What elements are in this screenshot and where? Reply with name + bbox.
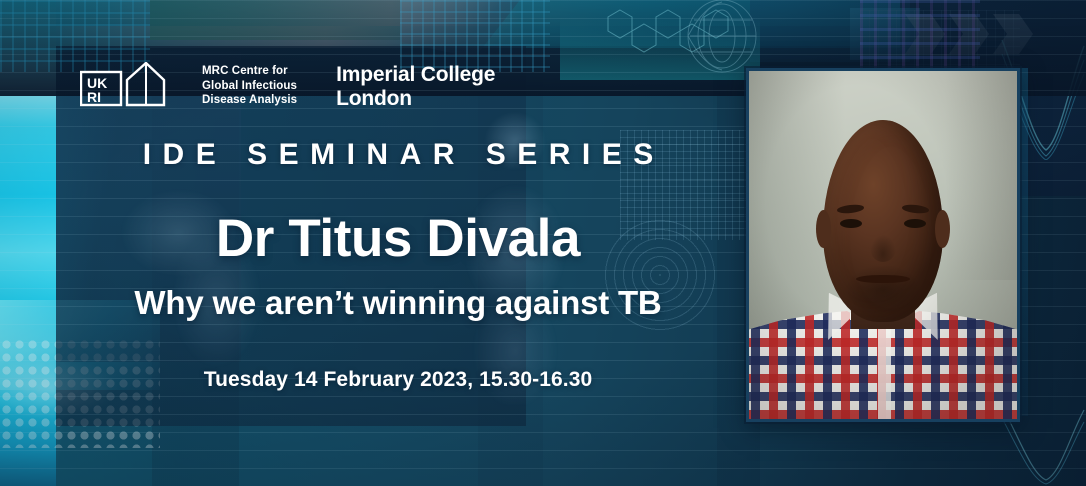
ukri-logo-icon: UK RI xyxy=(80,62,192,110)
imperial-line-2: London xyxy=(336,87,495,111)
mrc-line-1: MRC Centre for xyxy=(202,64,297,79)
mrc-line-3: Disease Analysis xyxy=(202,93,297,108)
logo-row: UK RI MRC Centre for Global Infectious D… xyxy=(80,62,495,110)
portrait-soft-shadow xyxy=(749,71,1017,419)
imperial-line-1: Imperial College xyxy=(336,63,495,87)
series-kicker: IDE SEMINAR SERIES xyxy=(56,140,740,170)
event-datetime: Tuesday 14 February 2023, 15.30-16.30 xyxy=(56,369,740,390)
mrc-centre-logo-text: MRC Centre for Global Infectious Disease… xyxy=(202,62,297,108)
talk-title: Why we aren’t winning against TB xyxy=(56,285,740,321)
speaker-portrait-frame xyxy=(746,68,1020,422)
mrc-line-2: Global Infectious xyxy=(202,79,297,94)
imperial-college-logo-text: Imperial College London xyxy=(336,62,495,110)
svg-text:RI: RI xyxy=(87,89,101,105)
poster-text-block: IDE SEMINAR SERIES Dr Titus Divala Why w… xyxy=(56,140,740,390)
seminar-poster: UK RI MRC Centre for Global Infectious D… xyxy=(0,0,1086,486)
speaker-name: Dr Titus Divala xyxy=(56,212,740,265)
speaker-portrait xyxy=(749,71,1017,419)
